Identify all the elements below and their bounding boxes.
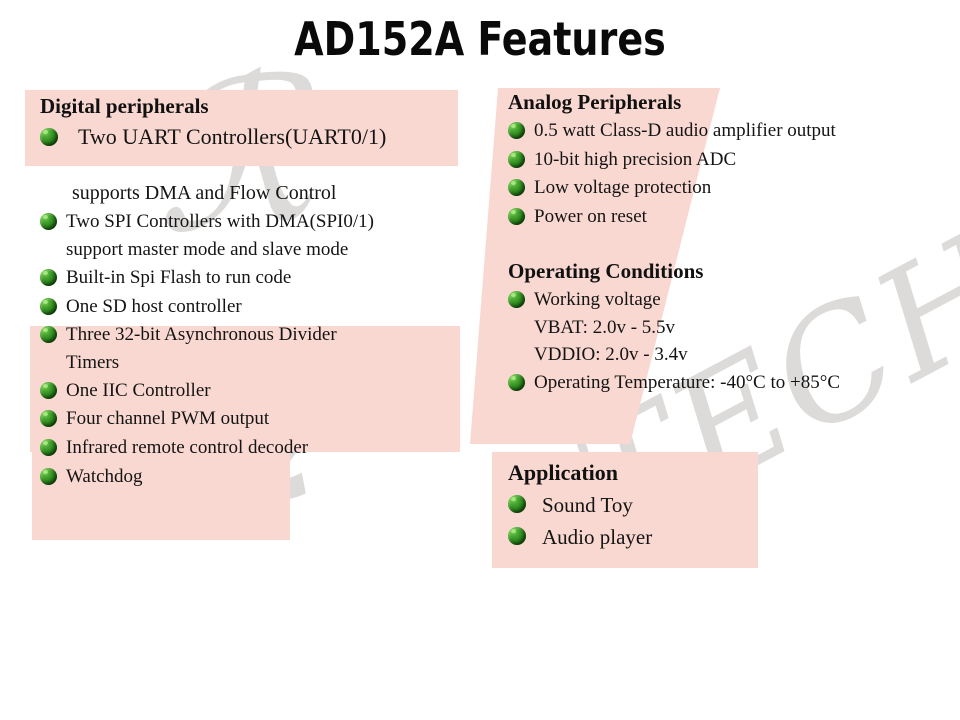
list-item: Three 32-bit Asynchronous Divider bbox=[40, 321, 480, 349]
green-sphere-bullet-icon bbox=[508, 179, 525, 196]
digital-peripherals-column: Digital peripherals Two UART Controllers… bbox=[40, 96, 480, 491]
list-item: Sound Toy bbox=[508, 490, 758, 521]
list-subline: Timers bbox=[66, 349, 480, 377]
list-item: Working voltage bbox=[508, 286, 928, 314]
list-item-label: Working voltage bbox=[534, 286, 661, 314]
list-item: Built-in Spi Flash to run code bbox=[40, 264, 480, 292]
green-sphere-bullet-icon bbox=[40, 439, 57, 456]
green-sphere-bullet-icon bbox=[508, 151, 525, 168]
green-sphere-bullet-icon bbox=[40, 468, 57, 485]
green-sphere-bullet-icon bbox=[40, 410, 57, 427]
section-heading-operating-conditions: Operating Conditions bbox=[508, 261, 928, 282]
list-item-label: 10-bit high precision ADC bbox=[534, 146, 736, 174]
list-item-label: Four channel PWM output bbox=[66, 405, 269, 433]
green-sphere-bullet-icon bbox=[40, 213, 57, 230]
list-item-label: Audio player bbox=[542, 522, 652, 553]
list-item-label: Watchdog bbox=[66, 463, 143, 491]
green-sphere-bullet-icon bbox=[508, 291, 525, 308]
green-sphere-bullet-icon bbox=[508, 208, 525, 225]
green-sphere-bullet-icon bbox=[40, 128, 58, 146]
section-heading-application: Application bbox=[508, 462, 758, 484]
application-section: Application Sound Toy Audio player bbox=[508, 462, 758, 552]
list-item: Operating Temperature: -40°C to +85°C bbox=[508, 369, 928, 397]
slide-canvas: ℛ TECHNOLOGY CO ℚ AD152A Features Digita… bbox=[0, 0, 960, 720]
page-title: AD152A Features bbox=[38, 12, 921, 66]
list-item: Low voltage protection bbox=[508, 174, 928, 202]
green-sphere-bullet-icon bbox=[508, 122, 525, 139]
green-sphere-bullet-icon bbox=[508, 495, 526, 513]
right-column: Analog Peripherals 0.5 watt Class-D audi… bbox=[508, 92, 928, 397]
list-item: 10-bit high precision ADC bbox=[508, 146, 928, 174]
green-sphere-bullet-icon bbox=[508, 374, 525, 391]
list-item-label: Two SPI Controllers with DMA(SPI0/1) bbox=[66, 208, 374, 236]
green-sphere-bullet-icon bbox=[40, 298, 57, 315]
section-heading-digital-peripherals: Digital peripherals bbox=[40, 96, 480, 117]
list-item-label: Three 32-bit Asynchronous Divider bbox=[66, 321, 337, 349]
list-subline: VDDIO: 2.0v - 3.4v bbox=[534, 341, 928, 369]
section-heading-analog-peripherals: Analog Peripherals bbox=[508, 92, 928, 113]
list-item: Four channel PWM output bbox=[40, 405, 480, 433]
list-item: 0.5 watt Class-D audio amplifier output bbox=[508, 117, 928, 145]
list-item-label: One SD host controller bbox=[66, 293, 242, 321]
list-item: One IIC Controller bbox=[40, 377, 480, 405]
list-item: Watchdog bbox=[40, 463, 480, 491]
list-item-label: Operating Temperature: -40°C to +85°C bbox=[534, 369, 840, 397]
list-subline: supports DMA and Flow Control bbox=[72, 179, 480, 208]
green-sphere-bullet-icon bbox=[40, 382, 57, 399]
green-sphere-bullet-icon bbox=[40, 326, 57, 343]
list-item-label: Low voltage protection bbox=[534, 174, 711, 202]
list-item-label: Sound Toy bbox=[542, 490, 633, 521]
list-item: Power on reset bbox=[508, 203, 928, 231]
list-item-label: Infrared remote control decoder bbox=[66, 434, 308, 462]
list-item: Two SPI Controllers with DMA(SPI0/1) bbox=[40, 208, 480, 236]
list-item-label: One IIC Controller bbox=[66, 377, 211, 405]
list-item-label: Power on reset bbox=[534, 203, 647, 231]
list-item: Infrared remote control decoder bbox=[40, 434, 480, 462]
list-item-label: 0.5 watt Class-D audio amplifier output bbox=[534, 117, 836, 145]
list-item-label: Two UART Controllers(UART0/1) bbox=[78, 121, 386, 153]
list-item: One SD host controller bbox=[40, 293, 480, 321]
list-subline: support master mode and slave mode bbox=[66, 236, 480, 264]
list-subline: VBAT: 2.0v - 5.5v bbox=[534, 314, 928, 342]
list-item: Two UART Controllers(UART0/1) bbox=[40, 121, 480, 153]
green-sphere-bullet-icon bbox=[40, 269, 57, 286]
green-sphere-bullet-icon bbox=[508, 527, 526, 545]
list-item: Audio player bbox=[508, 522, 758, 553]
list-item-label: Built-in Spi Flash to run code bbox=[66, 264, 291, 292]
